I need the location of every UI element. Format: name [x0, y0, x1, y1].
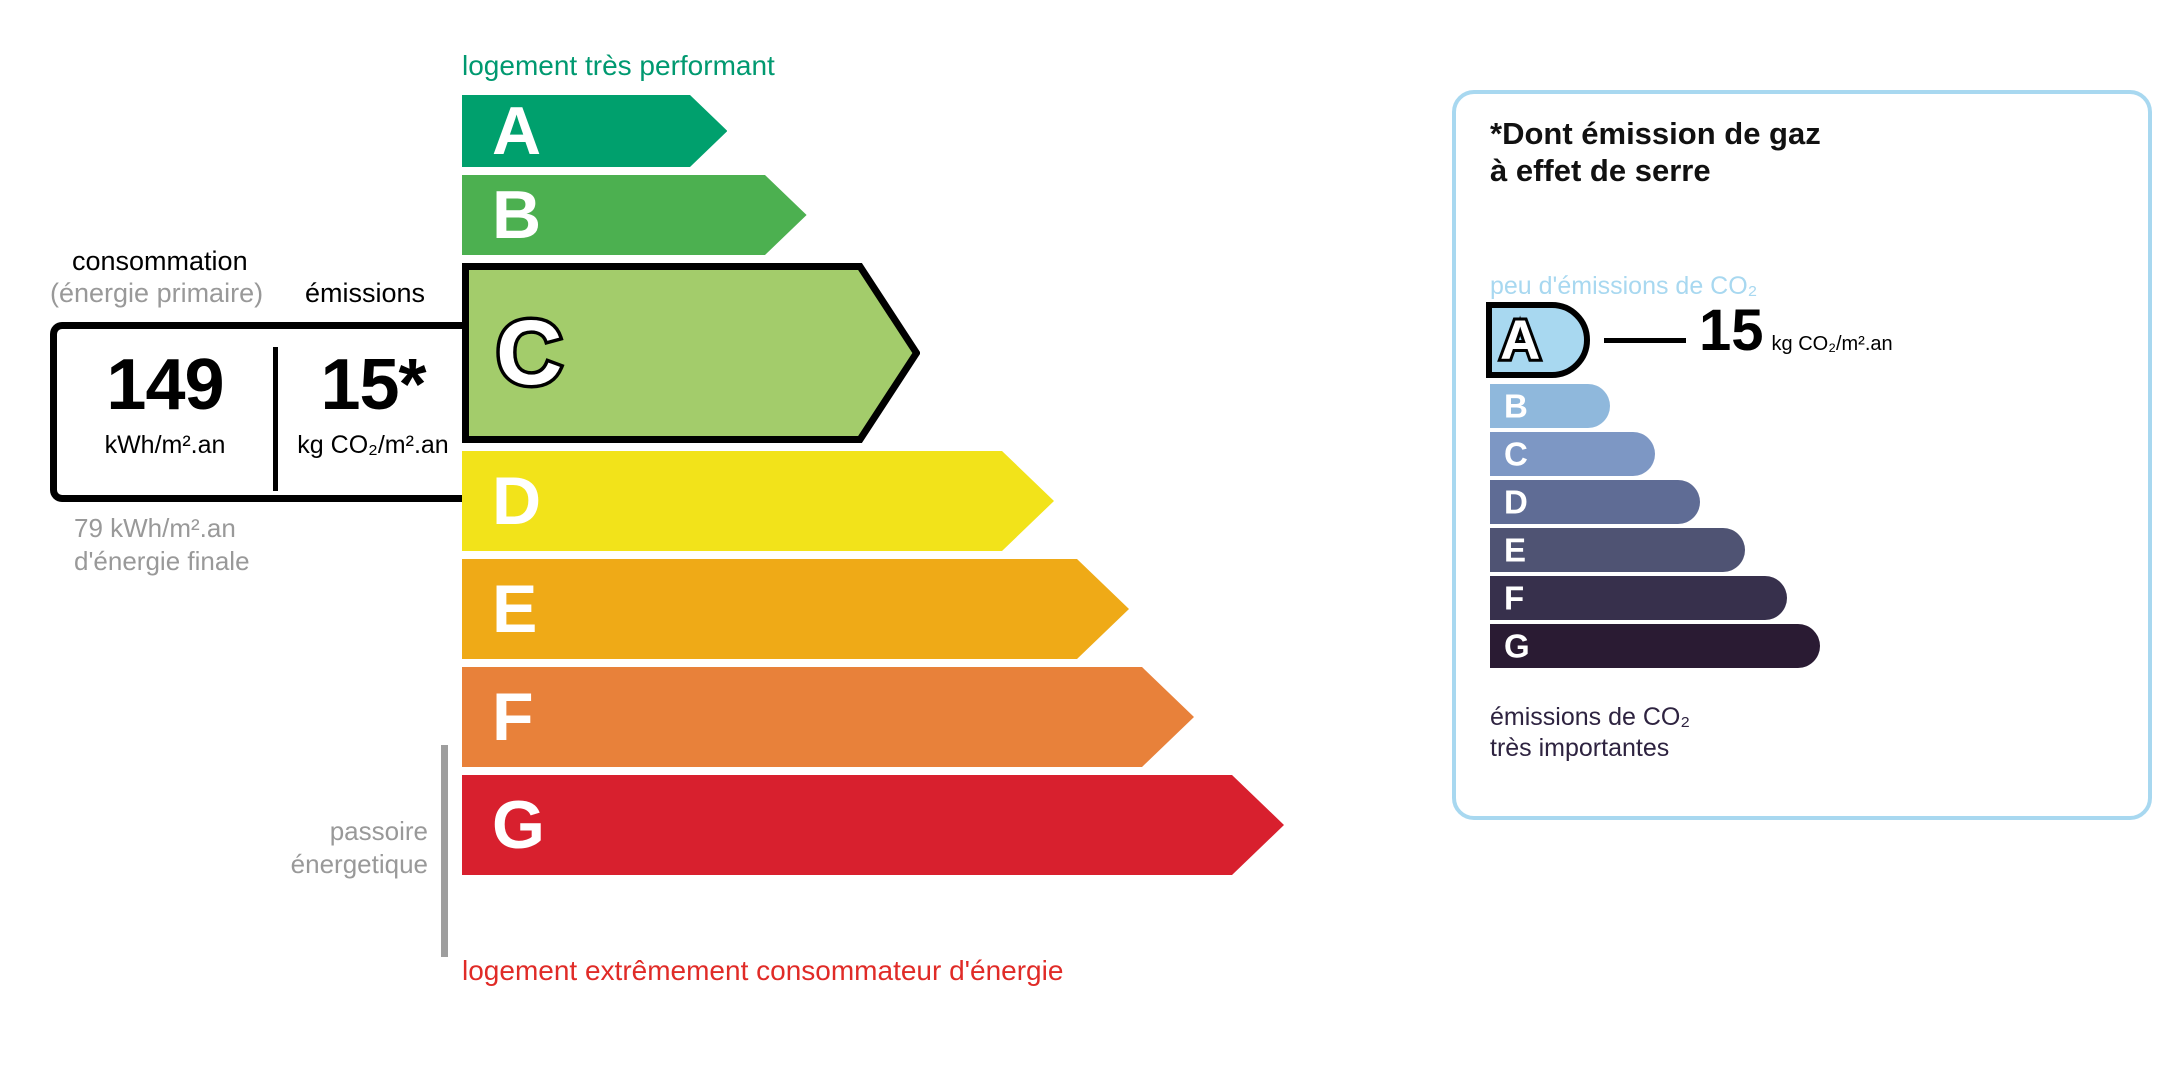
final-energy-note: 79 kWh/m².an d'énergie finale: [74, 512, 250, 579]
energy-arrow-f: F: [462, 667, 1194, 767]
energy-value-box: 149 kWh/m².an 15* kg CO₂/m².an: [50, 322, 462, 502]
co2-class-a-letter: A: [1500, 312, 1540, 368]
co2-bar-d: D: [1490, 480, 1700, 524]
emissions-header-label: émissions: [305, 278, 425, 309]
co2-bottom-line1: émissions de CO₂: [1490, 703, 1690, 731]
passoire-marker-bar: [441, 745, 448, 957]
co2-bar-row-f: F: [1490, 576, 1787, 620]
energy-class-row-f: F: [462, 667, 1194, 767]
consumption-value: 149: [57, 349, 273, 421]
co2-unit: kg CO₂/m².an: [1772, 333, 1893, 355]
passoire-line1: passoire: [330, 816, 428, 846]
co2-bar-g: G: [1490, 624, 1820, 668]
emission-value: 15*: [278, 349, 468, 421]
co2-class-letter-g: G: [1504, 630, 1530, 663]
co2-panel-title: *Dont émission de gaz à effet de serre: [1490, 116, 1821, 189]
passoire-line2: énergetique: [291, 849, 428, 879]
energy-arrow-a: A: [462, 95, 727, 167]
co2-bar-e: E: [1490, 528, 1745, 572]
co2-class-letter-e: E: [1504, 534, 1526, 567]
co2-bar-row-c: C: [1490, 432, 1655, 476]
energy-arrow-d: D: [462, 451, 1054, 551]
energy-class-row-c: C: [462, 263, 920, 443]
co2-value-group: 15kg CO₂/m².an: [1699, 302, 1893, 360]
energy-class-row-b: B: [462, 175, 807, 255]
passoire-label: passoire énergetique: [280, 815, 428, 882]
co2-top-caption: peu d'émissions de CO₂: [1490, 272, 1757, 301]
co2-title-line1: *Dont émission de gaz: [1490, 116, 1821, 151]
co2-class-letter-b: B: [1504, 390, 1528, 423]
co2-value: 15: [1699, 298, 1764, 363]
co2-class-letter-c: C: [1504, 438, 1528, 471]
co2-bar-row-e: E: [1490, 528, 1745, 572]
co2-bar-b: B: [1490, 384, 1610, 428]
emission-unit: kg CO₂/m².an: [278, 431, 468, 460]
energy-top-caption: logement très performant: [462, 50, 775, 82]
consumption-unit: kWh/m².an: [57, 431, 273, 460]
co2-class-letter-f: F: [1504, 582, 1524, 615]
final-energy-line2: d'énergie finale: [74, 546, 250, 576]
final-energy-line1: 79 kWh/m².an: [74, 513, 236, 543]
consumption-value-cell: 149 kWh/m².an: [57, 349, 273, 460]
co2-bar-row-d: D: [1490, 480, 1700, 524]
energy-arrow-b: B: [462, 175, 807, 255]
energy-bottom-caption: logement extrêmement consommateur d'éner…: [462, 955, 1063, 987]
co2-bar-c: C: [1490, 432, 1655, 476]
co2-class-letter-d: D: [1504, 486, 1528, 519]
primary-energy-sublabel: (énergie primaire): [50, 278, 263, 309]
energy-performance-diagram: logement très performant ABCDEFG 149 kWh…: [0, 0, 1400, 1079]
energy-arrow-g: G: [462, 775, 1284, 875]
energy-class-row-d: D: [462, 451, 1054, 551]
co2-bar-f: F: [1490, 576, 1787, 620]
co2-class-a-badge: A: [1486, 302, 1590, 378]
co2-emissions-panel: *Dont émission de gaz à effet de serre p…: [1452, 90, 2152, 820]
energy-arrow-e: E: [462, 559, 1129, 659]
emission-value-cell: 15* kg CO₂/m².an: [278, 349, 468, 460]
co2-bar-row-b: B: [1490, 384, 1610, 428]
energy-arrow-c: C: [462, 263, 920, 443]
energy-class-row-e: E: [462, 559, 1129, 659]
consumption-header-label: consommation: [72, 246, 248, 277]
co2-bottom-caption: émissions de CO₂ très importantes: [1490, 702, 1690, 763]
co2-bottom-line2: très importantes: [1490, 734, 1669, 762]
energy-class-row-g: G: [462, 775, 1284, 875]
energy-class-row-a: A: [462, 95, 727, 167]
co2-title-line2: à effet de serre: [1490, 153, 1711, 188]
co2-connector-line: [1604, 338, 1686, 343]
co2-bar-row-g: G: [1490, 624, 1820, 668]
